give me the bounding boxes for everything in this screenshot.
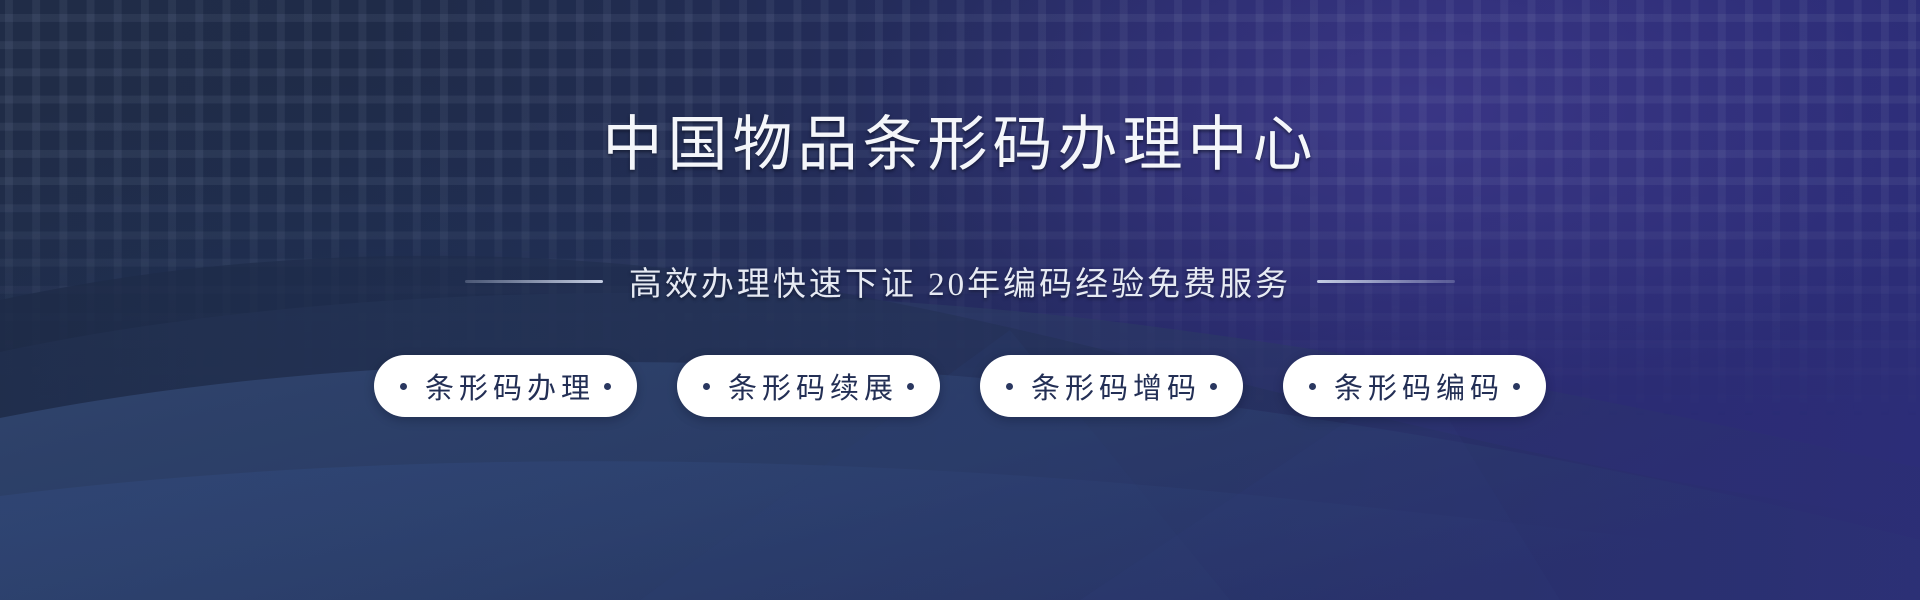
bullet-dot-icon <box>1513 383 1520 390</box>
promo-banner: 中国物品条形码办理中心 高效办理快速下证 20年编码经验免费服务 条形码办理 条… <box>0 0 1920 600</box>
service-pill-barcode-encode[interactable]: 条形码编码 <box>1283 355 1546 417</box>
bullet-dot-icon <box>1309 383 1316 390</box>
service-pill-label: 条形码办理 <box>416 365 595 407</box>
subtitle-row: 高效办理快速下证 20年编码经验免费服务 <box>465 257 1455 305</box>
service-pill-label: 条形码编码 <box>1325 365 1504 407</box>
service-pill-label: 条形码续展 <box>719 365 898 407</box>
left-rule-divider <box>465 280 603 283</box>
right-rule-divider <box>1317 280 1455 283</box>
service-pill-label: 条形码增码 <box>1022 365 1201 407</box>
subtitle-text: 高效办理快速下证 20年编码经验免费服务 <box>629 257 1291 305</box>
service-pill-barcode-renew[interactable]: 条形码续展 <box>677 355 940 417</box>
service-pill-row: 条形码办理 条形码续展 条形码增码 条形码编码 <box>374 355 1546 417</box>
bullet-dot-icon <box>604 383 611 390</box>
bullet-dot-icon <box>1210 383 1217 390</box>
banner-content: 中国物品条形码办理中心 高效办理快速下证 20年编码经验免费服务 条形码办理 条… <box>0 0 1920 600</box>
page-title: 中国物品条形码办理中心 <box>603 96 1318 183</box>
service-pill-barcode-addcode[interactable]: 条形码增码 <box>980 355 1243 417</box>
bullet-dot-icon <box>907 383 914 390</box>
bullet-dot-icon <box>703 383 710 390</box>
bullet-dot-icon <box>400 383 407 390</box>
service-pill-barcode-apply[interactable]: 条形码办理 <box>374 355 637 417</box>
bullet-dot-icon <box>1006 383 1013 390</box>
